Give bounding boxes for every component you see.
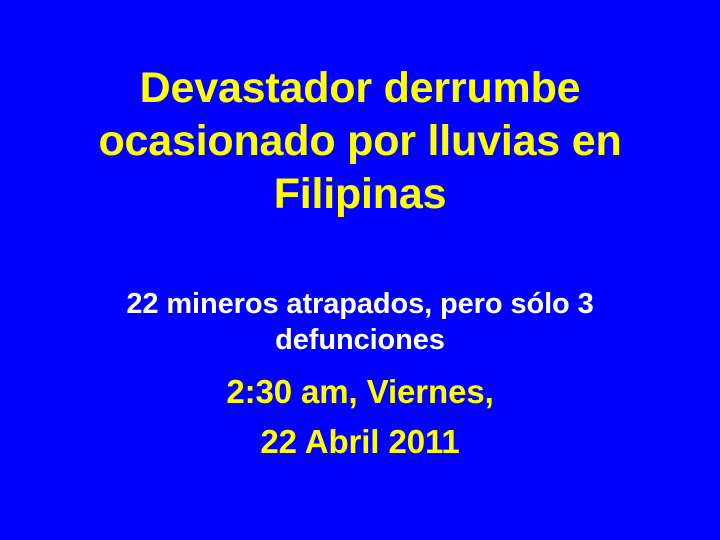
body-primary-text: 22 mineros atrapados, pero sólo 3 defunc… <box>40 286 680 358</box>
body-spacer <box>40 358 680 371</box>
datetime-line-1: 2:30 am, Viernes, <box>40 371 680 412</box>
title-line-2: ocasionado por lluvias en <box>36 115 684 168</box>
datetime-spacer <box>40 412 680 421</box>
slide-title: Devastador derrumbe ocasionado por lluvi… <box>36 62 684 221</box>
body-line-1: 22 mineros atrapados, pero sólo 3 <box>40 286 680 322</box>
presentation-slide: Devastador derrumbe ocasionado por lluvi… <box>0 0 720 540</box>
slide-body: 22 mineros atrapados, pero sólo 3 defunc… <box>40 286 680 462</box>
title-line-1: Devastador derrumbe <box>36 62 684 115</box>
body-line-2: defunciones <box>40 322 680 358</box>
title-line-3: Filipinas <box>36 168 684 221</box>
datetime-line-2: 22 Abril 2011 <box>40 421 680 462</box>
body-secondary-text: 2:30 am, Viernes, 22 Abril 2011 <box>40 371 680 462</box>
